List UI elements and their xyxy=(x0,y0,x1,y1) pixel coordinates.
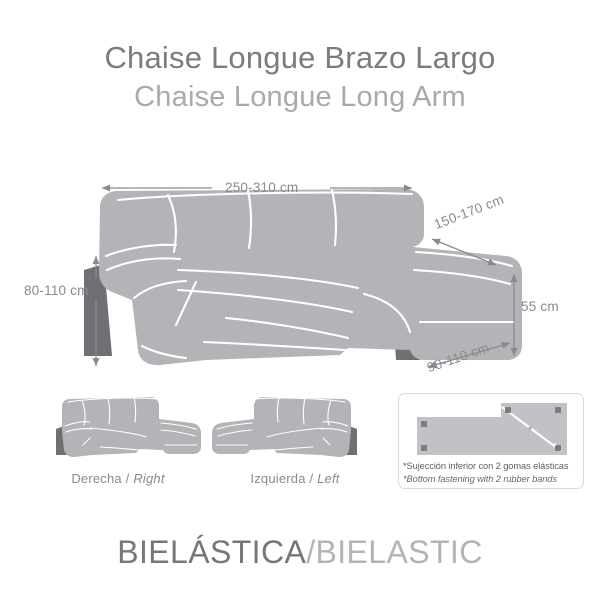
footer: BIELÁSTICA/BIELASTIC xyxy=(0,530,600,574)
variant-left-label-es: Izquierda xyxy=(250,471,305,486)
dimension-arrows xyxy=(0,160,600,390)
variant-left-figure xyxy=(205,385,385,463)
note-line-spanish: *Sujección inferior con 2 gomas elástica… xyxy=(403,460,581,473)
variant-left-label-en: Left xyxy=(317,471,339,486)
footer-bielastic: BIELÁSTICA/BIELASTIC xyxy=(0,530,600,574)
main-sofa-illustration xyxy=(0,160,600,390)
variant-right-label-es: Derecha xyxy=(71,471,122,486)
fastening-note-box: * * *Sujección inferior con 2 gomas elás… xyxy=(398,393,584,489)
footer-text-spanish: BIELÁSTICA xyxy=(117,534,306,570)
footer-text-english: BIELASTIC xyxy=(316,534,483,570)
asterisk-marker-1: * xyxy=(528,425,532,435)
arrow-depth xyxy=(432,239,496,265)
dimension-label-width: 250-310 cm xyxy=(225,180,298,195)
title-spanish: Chaise Longue Brazo Largo xyxy=(0,38,600,78)
variant-left-separator: / xyxy=(306,471,317,486)
variant-left-label: Izquierda / Left xyxy=(205,471,385,486)
title-english: Chaise Longue Long Arm xyxy=(0,78,600,116)
sofa-plan-shape xyxy=(417,403,567,455)
footer-separator: / xyxy=(306,534,315,570)
fastening-diagram: * * xyxy=(405,399,579,461)
dimension-label-seat-height: 55 cm xyxy=(521,299,559,314)
page-title: Chaise Longue Brazo Largo Chaise Longue … xyxy=(0,38,600,116)
variant-right-separator: / xyxy=(122,471,133,486)
asterisk-marker-2: * xyxy=(553,441,557,451)
variant-left[interactable]: Izquierda / Left xyxy=(205,385,385,495)
fastening-note-text: *Sujección inferior con 2 gomas elástica… xyxy=(403,460,581,486)
product-diagram: Chaise Longue Brazo Largo Chaise Longue … xyxy=(0,0,600,600)
variant-right[interactable]: Derecha / Right xyxy=(28,385,208,495)
variant-right-label-en: Right xyxy=(133,471,164,486)
dimension-label-height: 80-110 cm xyxy=(24,283,89,298)
variant-right-label: Derecha / Right xyxy=(28,471,208,486)
note-line-english: *Bottom fastening with 2 rubber bands xyxy=(403,473,581,486)
variant-right-figure xyxy=(28,385,208,463)
